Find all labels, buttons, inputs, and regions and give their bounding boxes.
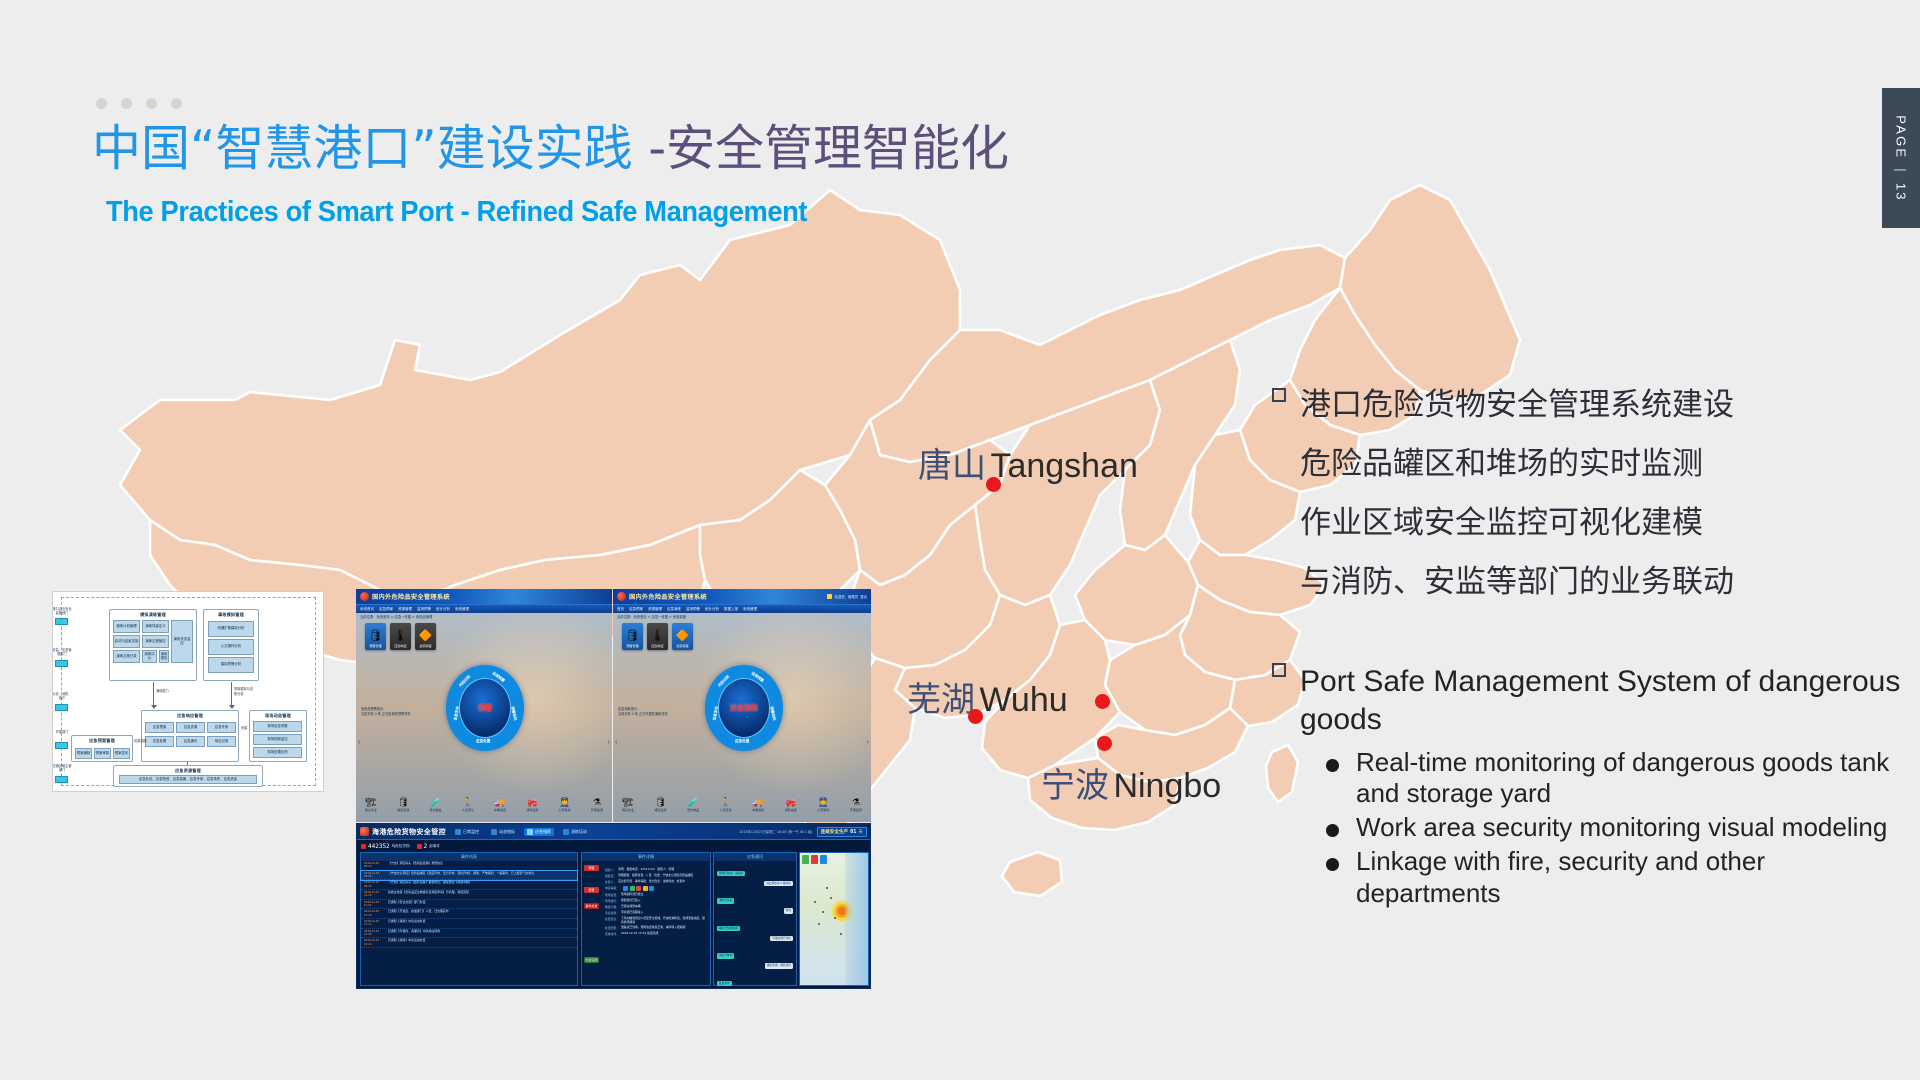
user-icon (827, 594, 832, 599)
icon-cell[interactable]: 🚒消防设施 (522, 798, 542, 812)
map-marker-tangshan (986, 477, 1001, 492)
icon-cell[interactable]: 🧪危化物品 (426, 798, 446, 812)
detail-value: 张明 · 报警电话：13311123 · 报警人：管理 (618, 868, 674, 872)
flow-cell: 应急通讯 (176, 736, 205, 747)
slide-title-part-purple: -安全管理智能化 (648, 120, 1009, 177)
icon-cell[interactable]: ⚗环保监测 (587, 798, 607, 812)
flow-side-label: 公安、消防、医疗 (52, 693, 72, 700)
map-marker-wuhu (968, 709, 983, 724)
nav-item[interactable]: 监测预警 (686, 607, 700, 612)
flow-group-title: 应急响应管理 (142, 711, 238, 719)
flow-cell: 响应记录 (207, 736, 236, 747)
detail-value: 2018-12-03 15:54 处置完成 (621, 932, 658, 936)
city-name-en: Ningbo (1113, 767, 1221, 805)
safe-days-unit: 天 (858, 829, 863, 835)
flow-cell: 应急预案 (145, 722, 174, 733)
table-row[interactable]: 2018-12-03 09:05【宁波北仑港区】危险品罐区【温度异常、压力异常、… (361, 871, 577, 881)
deco-dot (96, 98, 107, 109)
monitor-clock: 2018年12月03日星期二 16:48 (第一气 48.1 级) (739, 829, 812, 834)
icon-label: 罐区监测 (655, 808, 667, 812)
city-name-cn: 芜湖 (907, 680, 975, 720)
feed-line: 浓度下降中 (714, 943, 796, 961)
icon-label: 人员定位 (720, 808, 732, 812)
table-row[interactable]: 2018-12-03 12:30已通知【开发区、投放部门】人员，已处理完毕 (361, 909, 577, 919)
nav-item[interactable]: 资源管理 (648, 607, 662, 612)
dashboard-icon-row[interactable]: 🏗码头作业 🛢罐区监测 🧪危化物品 🚶人员定位 🚚车辆监控 🚒消防设施 👮公安联… (618, 798, 866, 812)
feed-message: 浓度下降中 (717, 953, 734, 958)
city-label-ningbo: 宁波 Ningbo (1041, 758, 1221, 807)
ring-inner: 安全演练 (718, 678, 770, 738)
feed-message: 收到 (784, 908, 793, 913)
row-text: 已通知【环保局、海事局】中队前往现场 (388, 930, 440, 934)
cn-line: 与消防、安监等部门的业务联动 (1300, 565, 1912, 599)
icon-label: 消防设施 (785, 808, 797, 812)
severity-badge-done: 处置完成 (584, 957, 599, 963)
monitor-tab-indicators[interactable]: 动态指标 (488, 828, 518, 836)
list-item-label: Work area security monitoring visual mod… (1356, 812, 1887, 844)
event-detail-title: 事件详情 (582, 853, 710, 861)
flow-group-title: 现场动态管理 (250, 711, 306, 719)
row-text: 【宁波北仑港区】危险品罐区【温度异常、压力异常、液位异常】，报警，严重级别：一般… (388, 872, 534, 876)
icon-cell[interactable]: 🚚车辆监控 (748, 798, 768, 812)
tile-emergency-response[interactable]: 🌡 应急响应 (647, 623, 668, 650)
cargo-icon (361, 844, 366, 849)
feed-message: 继续监测，保持通讯 (765, 963, 793, 968)
fire-truck-icon: 🚒 (527, 798, 538, 807)
flow-group-title: 应急预案管理 (72, 736, 132, 744)
row-text: 已通知【消防】中队出动处置 (388, 939, 426, 943)
detail-key: 报警源： (605, 874, 616, 878)
icon-cell[interactable]: 🚶人员定位 (716, 798, 736, 812)
en-heading: Port Safe Management System of dangerous… (1300, 663, 1912, 737)
city-name-cn: 宁波 (1041, 766, 1109, 806)
flow-cell: 演练过程管控 (142, 635, 169, 648)
flow-arrow-head (229, 705, 235, 709)
map-legend (802, 855, 827, 864)
row-timestamp: 2018-12-03 10:18 (364, 891, 386, 897)
nav-item[interactable]: 统计分析 (436, 607, 450, 612)
dashboard-header: 国内外危险品安全管理系统 (356, 589, 612, 604)
monitor-tab-daily[interactable]: 日常监控 (452, 828, 482, 836)
event-list-panel[interactable]: 事件列表 2018-12-03 08:12【宁波】港区码头【危险品泄漏】预警信息… (360, 852, 578, 986)
flow-cell: 火灾爆炸分析 (208, 639, 254, 655)
tile-label: 资源调度 (419, 643, 431, 648)
icon-label: 环保监测 (850, 808, 862, 812)
detail-key: 报警人： (605, 868, 616, 872)
row-timestamp: 2018-12-03 12:30 (364, 910, 386, 916)
detail-key: 完成时间： (605, 932, 619, 936)
list-item-label: Real-time monitoring of dangerous goods … (1356, 747, 1912, 810)
monitor-stats: 442352 吨危险货物 2 起事件 (361, 843, 440, 850)
nav-item[interactable]: 系统管理 (743, 607, 757, 612)
feed-line: 现场已到达，请指示 (714, 861, 796, 879)
detail-row: 响应等级： (602, 885, 708, 892)
detail-value: 现场指挥部已成立 (621, 893, 643, 897)
detail-key: 响应等级： (605, 886, 619, 890)
row-text: 已通知【消防】中队出动处置 (388, 920, 426, 924)
icon-label: 码头作业 (622, 808, 634, 812)
detail-row: 处置建议：下风向撤离周边人员至安全区域，开启喷淋降温，监测泄漏浓度，保持通讯畅通 (602, 916, 708, 925)
icon-label: 公安联动 (559, 808, 571, 812)
row-timestamp: 2018-12-03 13:14 (364, 920, 386, 926)
tile-resource-dispatch[interactable]: 🔶 资源调度 (672, 623, 693, 650)
tile-warning-management[interactable]: 🛢 预警管理 (365, 623, 386, 650)
nav-item[interactable]: 资源管理 (398, 607, 412, 612)
icon-label: 车辆监控 (752, 808, 764, 812)
map-marker-ningbo (1097, 736, 1112, 751)
square-bullet-icon (1272, 388, 1286, 402)
row-timestamp: 2018-12-03 11:02 (364, 901, 386, 907)
flow-group-title: 应急资源管理 (114, 766, 262, 774)
map-marker-shanghai (1095, 694, 1110, 709)
tile-label: 资源调度 (676, 643, 688, 648)
flow-cell: 应急处置 (145, 736, 174, 747)
tile-resource-dispatch[interactable]: 🔶 资源调度 (415, 623, 436, 650)
icon-cell[interactable]: 🚒消防设施 (781, 798, 801, 812)
dashboard-nav[interactable]: 系统首页 应急预案 资源管理 监测预警 统计分析 系统管理 (356, 604, 612, 613)
flow-cell: 应急队伍、应急物资、应急装备、应急专家、应急场所、应急资金 (119, 775, 257, 784)
nav-item[interactable]: 首页 (617, 607, 624, 612)
feed-message: 消防已出动 (717, 898, 734, 903)
breadcrumb: 当前位置：系统首页 > 应急一张图 > 资源调度 (617, 614, 686, 619)
chart-icon (491, 829, 497, 835)
stat-value: 442352 (368, 843, 390, 850)
page-badge-number: 13 (1894, 182, 1909, 201)
table-row[interactable]: 2018-12-03 11:02已通知【安全处置】部门处置 (361, 900, 577, 910)
flow-side-label: 环保部门 (52, 731, 72, 735)
flow-side-connector (55, 776, 68, 783)
en-heading-row: Port Safe Management System of dangerous… (1272, 663, 1912, 737)
table-row[interactable]: 2018-12-03 15:22已通知【消防】中队出动处置 (361, 938, 577, 948)
flow-side-label: 安监、应急管理部门 (52, 649, 72, 656)
detail-key: 现场监控： (605, 899, 619, 903)
icon-cell[interactable]: ⚗环保监测 (846, 798, 866, 812)
person-icon: 🚶 (462, 798, 473, 807)
severity-badge-handling: 事件处置 (584, 903, 599, 909)
person-icon: 🚶 (720, 798, 731, 807)
dot-bullet-icon (1326, 858, 1339, 871)
crane-icon: 🏗 (622, 798, 633, 807)
flow-side-connector (55, 742, 68, 749)
status-chips (623, 886, 654, 891)
user-box[interactable]: 欢迎您，管理员 退出 (827, 594, 867, 599)
feed-line: 消防已出动 (714, 888, 796, 906)
deco-dot (146, 98, 157, 109)
list-item: Real-time monitoring of dangerous goods … (1326, 747, 1912, 810)
map-poi (834, 917, 836, 919)
severity-badge-alarm: 报警 (584, 887, 599, 893)
tile-label: 应急响应 (651, 643, 663, 648)
monitor-tab-emergency[interactable]: 应急指挥 (524, 828, 554, 836)
note-line: 当前共有 0 条 正在开展的演练任务 (618, 712, 668, 717)
monitor-logo-icon (360, 827, 369, 836)
vehicle-icon: 🚚 (495, 798, 506, 807)
flow-cell: 演练场景定义 (142, 620, 169, 633)
feed-message: 环保监测已到位 (770, 936, 793, 941)
icon-cell[interactable]: 🏗码头作业 (361, 798, 381, 812)
icon-label: 环保监测 (591, 808, 603, 812)
safe-days-value: 01 (850, 829, 856, 835)
icon-cell[interactable]: 🚚车辆监控 (490, 798, 510, 812)
tab-label: 演练培训 (571, 829, 587, 835)
row-timestamp: 2018-12-03 09:05 (364, 872, 386, 878)
monitoring-screenshot[interactable]: 海港危险货物安全管控 日常监控 动态指标 应急指挥 演练培训 2018年12月0… (356, 823, 871, 989)
legend-danger-icon (811, 855, 818, 864)
detail-row: 完成时间：2018-12-03 15:54 处置完成 (602, 931, 708, 937)
breadcrumb: 当前位置：系统首页 > 应急一张图 > 危险品管理 (360, 614, 432, 619)
feed-line: 罐区已隔离警戒 (714, 916, 796, 934)
user-greeting: 欢迎您，管理员 (834, 594, 858, 599)
flow-edge-label: 事故模拟与态势分析 (234, 686, 254, 696)
tank-icon: 🛢 (398, 798, 409, 807)
slide-subtitle: The Practices of Smart Port - Refined Sa… (106, 196, 807, 229)
logout-link[interactable]: 退出 (860, 594, 867, 599)
page-number-badge: PAGE | 13 (1882, 88, 1920, 228)
table-row[interactable]: 2018-12-03 10:18接收全省级【危化品应急救援队伍调度申请】已处理，… (361, 890, 577, 900)
flow-arrow-head (151, 705, 157, 709)
tile-label: 预警管理 (626, 643, 638, 648)
monitor-map-panel[interactable] (799, 852, 869, 986)
dashboard-icon-row[interactable]: 🏗码头作业 🛢罐区监测 🧪危化物品 🚶人员定位 🚚车辆监控 🚒消防设施 👮公安联… (361, 798, 607, 812)
deco-dot (171, 98, 182, 109)
hazard-diamond-icon: 🔶 (419, 631, 433, 642)
decorative-dots (96, 98, 182, 109)
icon-cell[interactable]: 👮公安联动 (813, 798, 833, 812)
chip (630, 886, 635, 891)
dot-bullet-icon (1326, 759, 1339, 772)
chip (623, 886, 628, 891)
detail-key: 专家指导： (605, 911, 619, 915)
nav-item[interactable]: 统计分析 (705, 607, 719, 612)
table-row[interactable]: 2018-12-03 13:14已通知【消防】中队出动处置 (361, 919, 577, 929)
cn-line: 危险品罐区和堆场的实时监测 (1300, 447, 1912, 481)
ring-inner: 预警 (459, 678, 511, 738)
icon-label: 危化物品 (430, 808, 442, 812)
icon-label: 消防设施 (526, 808, 538, 812)
city-label-wuhu: 芜湖 Wuhu (907, 672, 1068, 721)
flow-cell: 预案审核 (94, 748, 111, 759)
flow-cell: 应急资源 (176, 722, 205, 733)
flow-edge-label: 演练能力 (156, 688, 169, 693)
safe-days-badge: 连续安全生产 01 天 (817, 827, 867, 837)
tile-warning-management[interactable]: 🛢 预警管理 (622, 623, 643, 650)
flow-arrow-line (153, 682, 154, 706)
row-timestamp: 2018-12-03 08:12 (364, 862, 386, 868)
flow-edge-label: 资源 (241, 725, 249, 730)
list-item: Work area security monitoring visual mod… (1326, 812, 1912, 844)
city-name-en: Tangshan (990, 447, 1137, 485)
table-row[interactable]: 2018-12-03 09:40【宁波】港区码头【监控设备】报警信息，故障类型【… (361, 880, 577, 890)
process-ring-diagram: 预警 风险识别 监测预警 预警研判 应急处置 信息发布 (446, 665, 524, 751)
stat-events: 2 起事件 (417, 843, 440, 850)
dot-bullet-icon (1326, 824, 1339, 837)
icon-label: 人员定位 (462, 808, 474, 812)
daily-monitor-icon (455, 829, 461, 835)
table-row[interactable]: 2018-12-03 08:12【宁波】港区码头【危险品泄漏】预警信息 (361, 861, 577, 871)
detail-value: 下风向撤离周边人员至安全区域，开启喷淋降温，监测泄漏浓度，保持通讯畅通 (621, 917, 705, 924)
legend-safe-icon (802, 855, 809, 864)
stat-label: 吨危险货物 (392, 844, 410, 849)
chip (636, 886, 641, 891)
communication-feed-panel: 应急通讯 现场已到达，请指示 请立即启动 II 级响应 消防已出动 收到 罐区已… (713, 852, 797, 986)
environment-icon: ⚗ (852, 798, 860, 807)
tab-label: 动态指标 (499, 829, 515, 835)
dashboard-note: 应急演练提示： 当前共有 0 条 正在开展的演练任务 (618, 707, 668, 717)
nav-item[interactable]: 应急演练 (667, 607, 681, 612)
dashboard-nav[interactable]: 首页 应急预案 资源管理 应急演练 监测预警 统计分析 数据上报 系统管理 (613, 604, 871, 613)
environment-icon: ⚗ (593, 798, 601, 807)
dashboard-screenshot-1[interactable]: 国内外危险品安全管理系统 系统首页 应急预案 资源管理 监测预警 统计分析 系统… (356, 589, 612, 822)
app-logo-icon (617, 592, 626, 601)
cn-line: 作业区域安全监控可视化建模 (1300, 506, 1912, 540)
chip (649, 886, 654, 891)
cn-heading-row: 港口危险货物安全管理系统建设 (1272, 388, 1912, 422)
icon-cell[interactable]: 🚶人员定位 (458, 798, 478, 812)
fire-truck-icon: 🚒 (785, 798, 796, 807)
flow-side-connector (55, 618, 68, 625)
nav-item[interactable]: 应急预案 (629, 607, 643, 612)
page-badge-separator: | (1894, 168, 1909, 174)
vehicle-icon: 🚚 (753, 798, 764, 807)
map-poi (840, 933, 842, 935)
row-text: 【宁波】港区码头【危险品泄漏】预警信息 (388, 862, 443, 866)
carousel-prev-icon[interactable]: ‹ (615, 739, 617, 746)
tile-label: 预警管理 (369, 643, 381, 648)
legend-monitor-icon (820, 855, 827, 864)
chemical-icon: 🧪 (688, 798, 699, 807)
carousel-next-icon[interactable]: › (867, 739, 869, 746)
police-icon: 👮 (559, 798, 570, 807)
list-item-label: Linkage with fire, security and other de… (1356, 846, 1912, 909)
row-text: 已通知【开发区、投放部门】人员，已处理完毕 (388, 910, 449, 914)
chip (643, 886, 648, 891)
monitor-title: 海港危险货物安全管控 (372, 827, 446, 837)
flow-arrow-line (231, 682, 232, 706)
feed-message: 处置完毕 (717, 981, 732, 986)
nav-item[interactable]: 应急预案 (379, 607, 393, 612)
police-icon: 👮 (818, 798, 829, 807)
detail-value: 管理报警 · 报警位置：1 区 · 位置：宁波北仑港区危险品罐区 (618, 874, 693, 878)
safe-days-label: 连续安全生产 (821, 829, 849, 835)
detail-key: 处置建议： (605, 917, 619, 921)
stat-label: 起事件 (429, 844, 440, 849)
icon-cell[interactable]: 👮公安联动 (555, 798, 575, 812)
flowchart-screenshot[interactable]: 模拟演练管理 演练计划管理 演练场景定义 演练状态监控 启动与结束控制 演练过程… (52, 591, 324, 792)
training-icon (563, 829, 569, 835)
map-poi (830, 897, 832, 899)
detail-key: 救援力量： (605, 905, 619, 909)
detail-value: 视频监控已接入 (621, 899, 641, 903)
flow-side-connector (55, 660, 68, 667)
table-row[interactable]: 2018-12-03 14:06已通知【环保局、海事局】中队前往现场 (361, 929, 577, 939)
app-logo-icon (360, 592, 369, 601)
flow-cell: 演练评价 (142, 650, 157, 663)
monitor-header: 海港危险货物安全管控 日常监控 动态指标 应急指挥 演练培训 2018年12月0… (357, 824, 870, 840)
hazard-diamond-icon: 🔶 (676, 631, 690, 642)
nav-item[interactable]: 数据上报 (724, 607, 738, 612)
flow-cell: 应急专家 (207, 722, 236, 733)
detail-value: 已调派消防车辆 (621, 905, 641, 909)
deco-dot (121, 98, 132, 109)
en-block: Port Safe Management System of dangerous… (1272, 663, 1912, 909)
en-bullet-list: Real-time monitoring of dangerous goods … (1326, 747, 1912, 910)
slide-title-part-blue: 中国“智慧港口”建设实践 (92, 120, 648, 177)
alert-icon (417, 844, 422, 849)
dashboard-title: 国内外危险品安全管理系统 (372, 592, 450, 601)
row-timestamp: 2018-12-03 15:22 (364, 939, 386, 945)
row-text: 接收全省级【危化品应急救援队伍调度申请】已处理，调度回复 (388, 891, 469, 895)
flow-cell: 模拟预警分析 (208, 657, 254, 673)
icon-cell[interactable]: 🏗码头作业 (618, 798, 638, 812)
ring-center-label: 安全演练 (730, 703, 758, 713)
map-water (845, 853, 868, 985)
nav-item[interactable]: 系统首页 (360, 607, 374, 612)
map-poi (818, 923, 820, 925)
flow-cell: 演练过程记录 (113, 650, 140, 663)
square-bullet-icon (1272, 663, 1286, 677)
oil-drum-icon: 🛢 (369, 631, 383, 642)
crane-icon: 🏗 (365, 798, 376, 807)
stat-tonnage: 442352 吨危险货物 (361, 843, 410, 850)
row-timestamp: 2018-12-03 09:40 (364, 881, 386, 887)
event-detail-panel: 事件详情 预警 报警 事件处置 处置完成 报警人：张明 · 报警电话：13311… (581, 852, 711, 986)
tank-icon: 🛢 (655, 798, 666, 807)
thermometer-icon: 🌡 (651, 631, 665, 642)
flow-cell: 演练计划管理 (113, 620, 140, 633)
dashboard-header: 国内外危险品安全管理系统 欢迎您，管理员 退出 (613, 589, 871, 604)
cn-heading: 港口危险货物安全管理系统建设 (1300, 388, 1734, 422)
note-line: 当前共有 0 条 正在处置的预警事件 (361, 712, 411, 717)
flow-side-label: 港口企业安全监管部门 (52, 608, 72, 615)
tile-emergency-response[interactable]: 🌡 应急响应 (390, 623, 411, 650)
emergency-icon (527, 829, 533, 835)
city-label-tangshan: 唐山 Tangshan (918, 438, 1138, 487)
ring-segment-label: 应急处置 (476, 739, 490, 744)
thermometer-icon: 🌡 (394, 631, 408, 642)
ring-center-label: 预警 (478, 703, 492, 713)
row-text: 【宁波】港区码头【监控设备】报警信息，故障类型【视频中断】 (388, 881, 472, 885)
flow-group-title: 模拟演练管理 (110, 610, 196, 618)
tile-label: 应急响应 (394, 643, 406, 648)
carousel-prev-icon[interactable]: ‹ (358, 739, 360, 746)
stat-value: 2 (424, 843, 428, 850)
chemical-icon: 🧪 (430, 798, 441, 807)
row-text: 已通知【安全处置】部门处置 (388, 901, 426, 905)
nav-item[interactable]: 监测预警 (417, 607, 431, 612)
map-poi (814, 901, 816, 903)
detail-value: 专家组已远程接入 (621, 911, 643, 915)
detail-key: 处置结果： (605, 926, 619, 930)
flow-side-connector (55, 704, 68, 711)
flow-cell: 预案发布 (113, 748, 130, 759)
list-item: Linkage with fire, security and other de… (1326, 846, 1912, 909)
dashboard-screenshot-2[interactable]: 国内外危险品安全管理系统 欢迎您，管理员 退出 首页 应急预案 资源管理 应急演… (613, 589, 871, 822)
icon-cell[interactable]: 🛢罐区监测 (651, 798, 671, 812)
flow-edge-label: 资源调度 (134, 738, 147, 743)
nav-item[interactable]: 系统管理 (455, 607, 469, 612)
detail-value: 应急值守员 · 事件等级：重大隐患 · 当前状态：处置中 (618, 880, 685, 884)
flow-cell: 演练状态监控 (171, 620, 193, 663)
carousel-next-icon[interactable]: › (608, 739, 610, 746)
flow-cell: 泄漏扩散模拟分析 (208, 621, 254, 637)
feed-message: 罐区已隔离警戒 (717, 926, 740, 931)
icon-label: 危化物品 (687, 808, 699, 812)
oil-drum-icon: 🛢 (626, 631, 640, 642)
icon-cell[interactable]: 🧪危化物品 (683, 798, 703, 812)
icon-cell[interactable]: 🛢罐区监测 (393, 798, 413, 812)
severity-badge-warning: 预警 (584, 865, 599, 871)
monitor-tab-training[interactable]: 演练培训 (560, 828, 590, 836)
